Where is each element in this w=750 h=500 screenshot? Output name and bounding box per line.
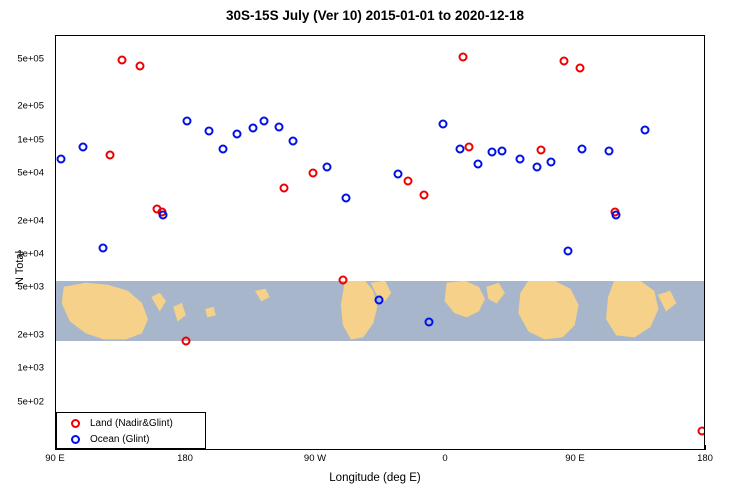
landmass-shape — [658, 291, 676, 311]
data-point-ocean — [374, 295, 383, 304]
data-point-ocean — [547, 157, 556, 166]
data-point-ocean — [455, 144, 464, 153]
y-tick-label: 2e+04 — [0, 215, 44, 226]
data-point-ocean — [98, 244, 107, 253]
y-tick-label: 5e+04 — [0, 168, 44, 179]
landmass-shape — [445, 281, 485, 317]
data-point-land — [182, 337, 191, 346]
landmass-shape — [341, 281, 377, 339]
data-point-land — [560, 57, 569, 66]
data-point-land — [280, 184, 289, 193]
data-point-ocean — [341, 193, 350, 202]
x-tick-label: 90 E — [565, 453, 585, 464]
landmass-shape — [174, 303, 186, 321]
x-tick-mark — [705, 445, 706, 450]
y-tick-label: 5e+03 — [0, 282, 44, 293]
data-point-ocean — [205, 127, 214, 136]
data-point-land — [135, 62, 144, 71]
data-point-land — [309, 168, 318, 177]
data-point-land — [536, 146, 545, 155]
x-tick-label: 0 — [442, 453, 447, 464]
x-tick-label: 180 — [177, 453, 193, 464]
data-point-ocean — [497, 146, 506, 155]
legend-entry-land: Land (Nadir&Glint) — [63, 415, 173, 431]
data-point-ocean — [611, 210, 620, 219]
x-tick-label: 180 — [697, 453, 713, 464]
data-point-land — [106, 151, 115, 160]
data-point-land — [459, 52, 468, 61]
data-point-ocean — [564, 246, 573, 255]
landmass-shape — [62, 283, 148, 339]
world-map-band — [56, 281, 704, 341]
plot-area — [55, 35, 705, 450]
data-point-land — [465, 143, 474, 152]
data-point-ocean — [473, 160, 482, 169]
y-tick-label: 2e+03 — [0, 330, 44, 341]
y-tick-label: 1e+05 — [0, 134, 44, 145]
legend-marker-ocean — [71, 435, 80, 444]
data-point-ocean — [218, 144, 227, 153]
data-point-land — [575, 63, 584, 72]
y-tick-label: 5e+02 — [0, 396, 44, 407]
data-point-ocean — [577, 144, 586, 153]
landmass-shape — [606, 281, 658, 337]
x-tick-label: 90 E — [45, 453, 65, 464]
data-point-ocean — [249, 123, 258, 132]
data-point-ocean — [439, 119, 448, 128]
data-point-ocean — [78, 143, 87, 152]
data-point-ocean — [288, 136, 297, 145]
data-point-ocean — [275, 122, 284, 131]
legend-label-ocean: Ocean (Glint) — [90, 434, 149, 445]
data-point-ocean — [322, 163, 331, 172]
data-point-ocean — [604, 147, 613, 156]
data-point-ocean — [515, 154, 524, 163]
data-point-ocean — [533, 162, 542, 171]
data-point-land — [117, 56, 126, 65]
data-point-ocean — [487, 148, 496, 157]
landmass-shape — [255, 289, 269, 301]
y-tick-label: 2e+05 — [0, 101, 44, 112]
data-point-ocean — [232, 129, 241, 138]
landmass-shape — [519, 281, 579, 339]
data-point-land — [403, 176, 412, 185]
data-point-ocean — [641, 125, 650, 134]
y-tick-label: 1e+03 — [0, 363, 44, 374]
coastline-shapes — [56, 281, 704, 341]
data-point-land — [419, 191, 428, 200]
y-tick-label: 5e+05 — [0, 54, 44, 65]
legend-marker-land — [71, 419, 80, 428]
data-point-land — [338, 276, 347, 285]
data-point-land — [698, 427, 705, 436]
landmass-shape — [487, 283, 505, 303]
legend-entry-ocean: Ocean (Glint) — [63, 431, 149, 447]
data-point-ocean — [393, 170, 402, 179]
data-point-ocean — [182, 117, 191, 126]
chart-title: 30S-15S July (Ver 10) 2015-01-01 to 2020… — [0, 8, 750, 23]
x-tick-label: 90 W — [304, 453, 326, 464]
y-tick-label: 1e+04 — [0, 249, 44, 260]
data-point-ocean — [158, 211, 167, 220]
data-point-ocean — [57, 154, 66, 163]
chart-legend: Land (Nadir&Glint) Ocean (Glint) — [56, 412, 206, 449]
legend-label-land: Land (Nadir&Glint) — [90, 418, 173, 429]
scatter-plot: 30S-15S July (Ver 10) 2015-01-01 to 2020… — [0, 0, 750, 500]
landmass-shape — [152, 293, 166, 311]
data-point-ocean — [425, 317, 434, 326]
x-axis-label: Longitude (deg E) — [0, 472, 750, 484]
landmass-shape — [206, 307, 216, 317]
data-point-ocean — [260, 116, 269, 125]
